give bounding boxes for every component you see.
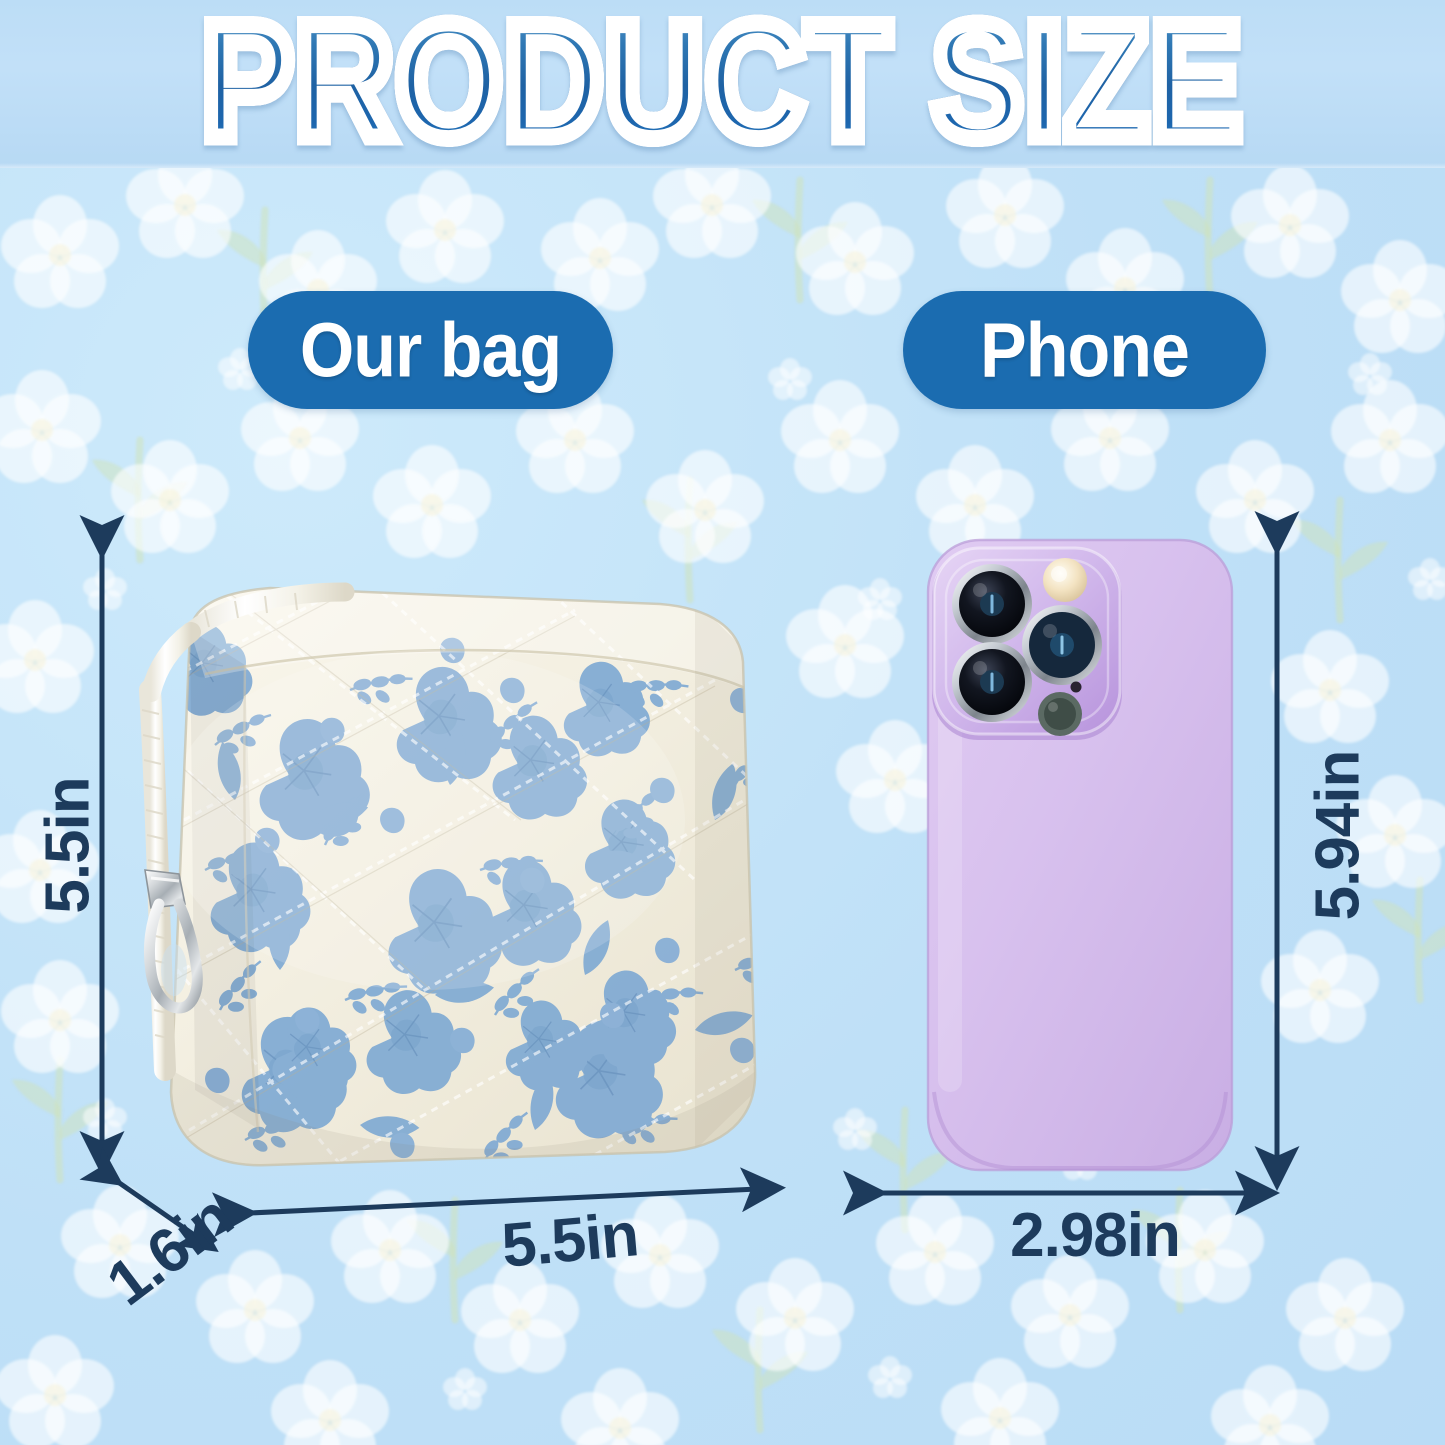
product-size-infographic: PRODUCT SIZE Our bag Phone <box>0 0 1445 1445</box>
bag-height-label: 5.5in <box>33 731 104 961</box>
phone-width-label: 2.98in <box>945 1200 1245 1271</box>
phone-height-label: 5.94in <box>1303 706 1374 966</box>
